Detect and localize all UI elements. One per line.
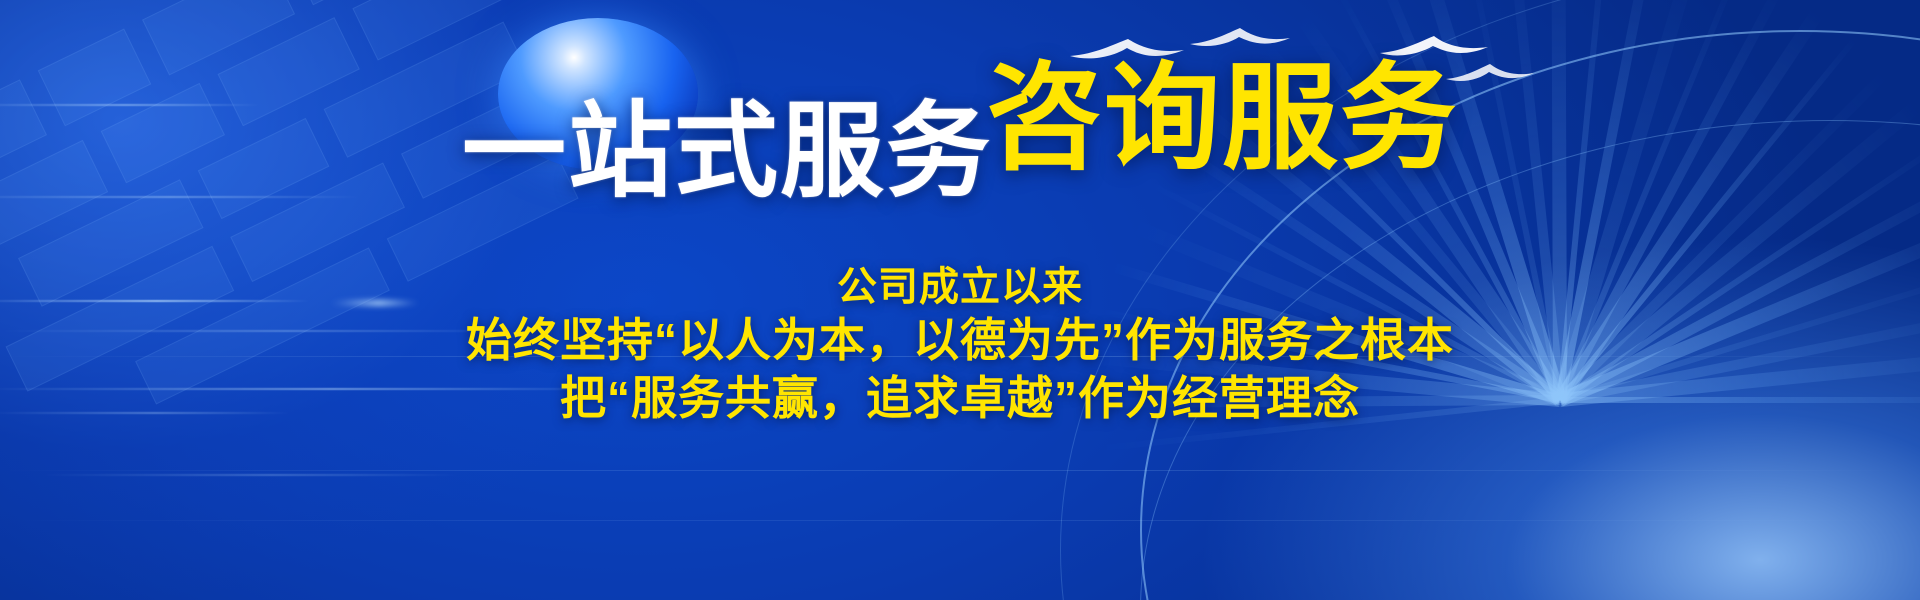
headline-primary: 一站式服务 <box>462 100 992 204</box>
headline-accent: 咨询服务 <box>986 60 1458 176</box>
subtitle-line-3: 把“服务共赢，追求卓越”作为经营理念 <box>0 370 1920 428</box>
horizon-line-3 <box>0 520 1920 521</box>
subtitle-line-1: 公司成立以来 <box>0 262 1920 312</box>
seagull-icon <box>1188 26 1292 56</box>
subtitle-block: 公司成立以来 始终坚持“以人为本，以德为先”作为服务之根本 把“服务共赢，追求卓… <box>0 262 1920 428</box>
subtitle-line-2: 始终坚持“以人为本，以德为先”作为服务之根本 <box>0 312 1920 370</box>
horizon-line-2 <box>0 470 1920 471</box>
promo-banner: 一站式服务 咨询服务 公司成立以来 始终坚持“以人为本，以德为先”作为服务之根本… <box>0 0 1920 600</box>
headline-row: 一站式服务 咨询服务 <box>0 78 1920 194</box>
